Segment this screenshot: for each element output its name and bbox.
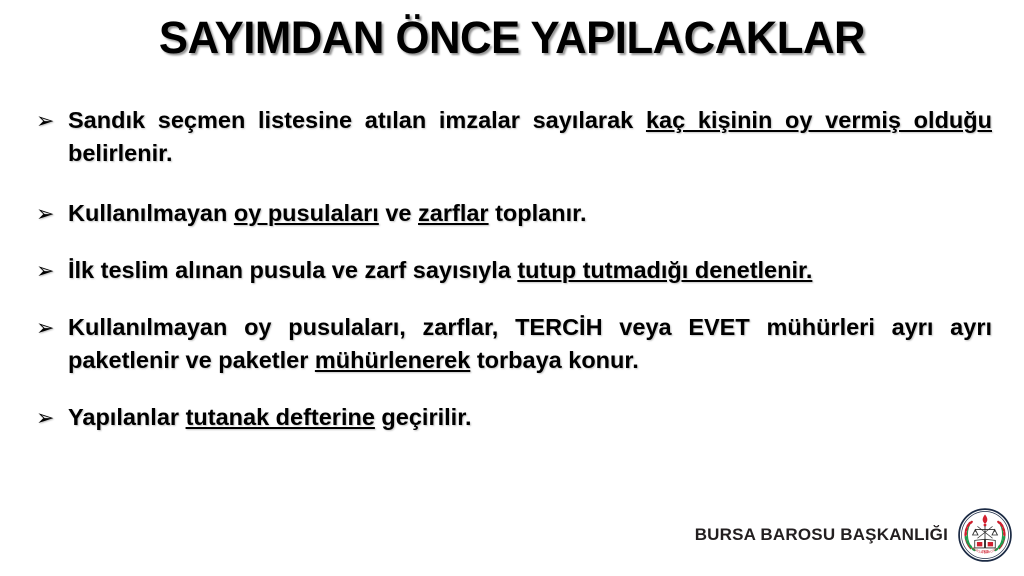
list-item: ➢Yapılanlar tutanak defterine geçirilir. xyxy=(32,401,992,434)
underlined-phrase: oy pusulaları xyxy=(234,200,379,226)
underlined-phrase: mühürlenerek xyxy=(315,347,470,373)
underlined-phrase: zarflar xyxy=(418,200,489,226)
underlined-phrase: tutup tutmadığı denetlenir. xyxy=(517,257,812,283)
underlined-phrase: tutanak defterine xyxy=(186,404,375,430)
footer: BURSA BAROSU BAŞKANLIĞI xyxy=(695,508,1012,562)
list-item-text: Kullanılmayan oy pusulaları, zarflar, TE… xyxy=(68,314,992,373)
list-item-text: Kullanılmayan oy pusulaları ve zarflar t… xyxy=(68,200,587,226)
list-item-text: Yapılanlar tutanak defterine geçirilir. xyxy=(68,404,472,430)
bullet-arrow-icon: ➢ xyxy=(36,401,54,434)
list-item: ➢Kullanılmayan oy pusulaları, zarflar, T… xyxy=(32,311,992,377)
list-item: ➢Sandık seçmen listesine atılan imzalar … xyxy=(32,104,992,170)
page-title: SAYIMDAN ÖNCE YAPILACAKLAR xyxy=(15,12,1008,64)
list-item-text: İlk teslim alınan pusula ve zarf sayısıy… xyxy=(68,257,812,283)
bullet-arrow-icon: ➢ xyxy=(36,104,54,137)
organization-name: BURSA BAROSU BAŞKANLIĞI xyxy=(695,525,948,545)
list-item-text: Sandık seçmen listesine atılan imzalar s… xyxy=(68,107,992,166)
bullet-arrow-icon: ➢ xyxy=(36,197,54,230)
bullet-arrow-icon: ➢ xyxy=(36,254,54,287)
bullet-list: ➢Sandık seçmen listesine atılan imzalar … xyxy=(32,104,992,434)
underlined-phrase: kaç kişinin oy vermiş olduğu xyxy=(646,107,992,133)
list-item: ➢İlk teslim alınan pusula ve zarf sayısı… xyxy=(32,254,992,287)
slide-canvas: SAYIMDAN ÖNCE YAPILACAKLAR ➢Sandık seçme… xyxy=(0,0,1024,576)
bursa-bar-association-emblem-icon: 1928 BURSA BAROSU xyxy=(958,508,1012,562)
bullet-arrow-icon: ➢ xyxy=(36,311,54,344)
list-item: ➢Kullanılmayan oy pusulaları ve zarflar … xyxy=(32,197,992,230)
